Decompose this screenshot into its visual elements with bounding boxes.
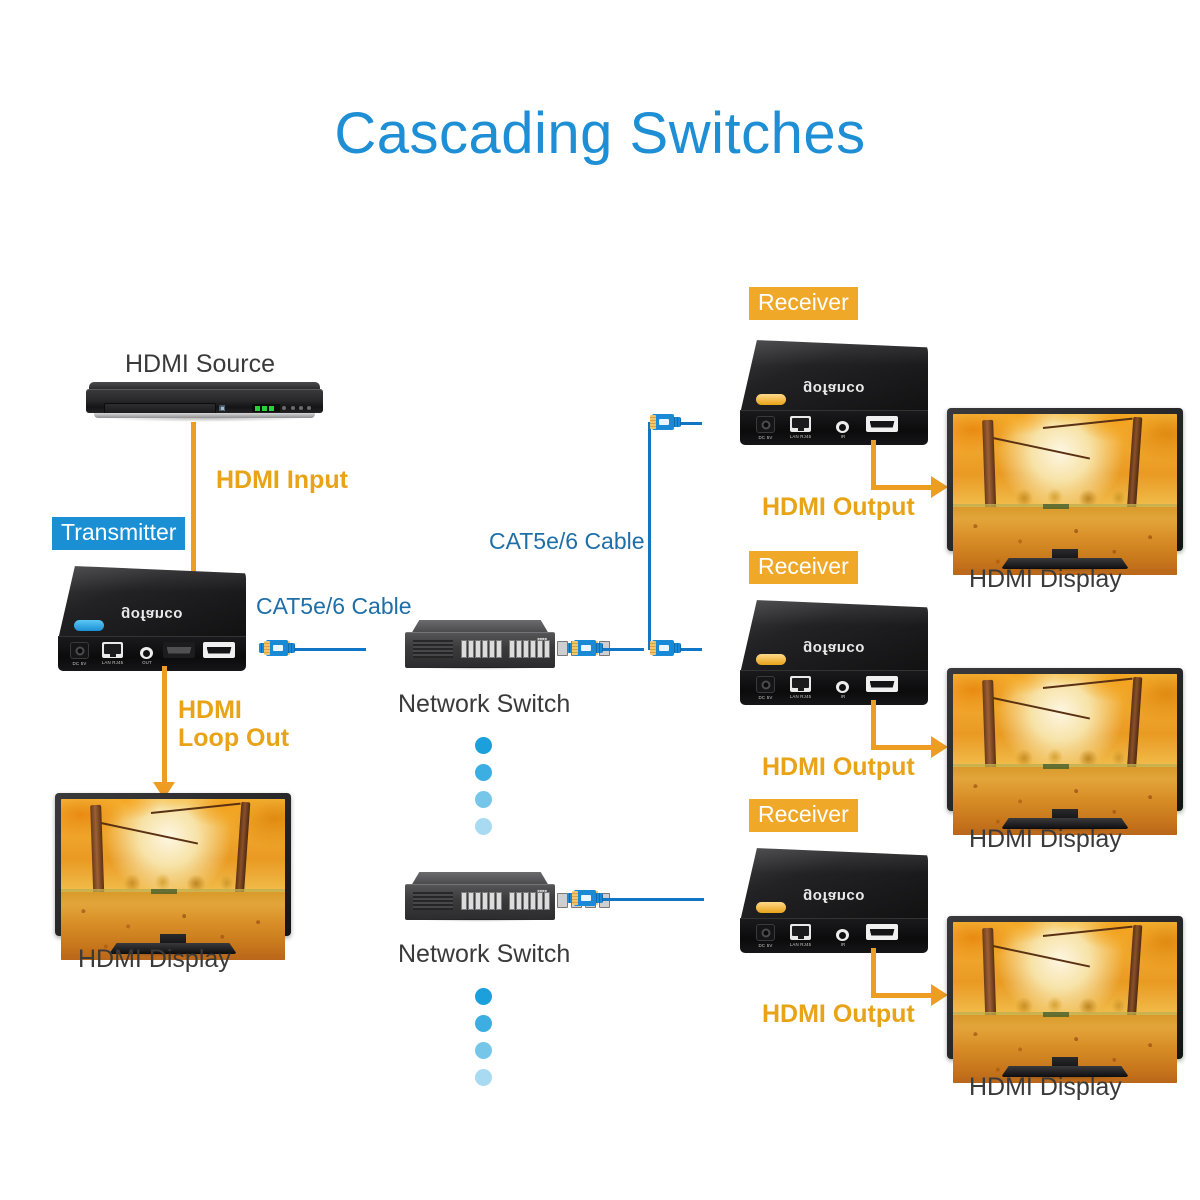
- hdmi-loop-out-line: [162, 666, 167, 784]
- receiver-1-port-panel: DC 5V LAN RJ45 IR: [740, 410, 928, 445]
- transmitter-port-dc: DC 5V: [70, 642, 89, 659]
- receiver-2-port-dc-label: DC 5V: [759, 695, 773, 700]
- transmitter-port-dc-label: DC 5V: [73, 661, 87, 666]
- receiver-1-brand-logo: gofanco: [803, 380, 865, 397]
- rj45-plug-right: [648, 412, 678, 432]
- receiver-2-port-lan-label: LAN RJ45: [790, 694, 812, 699]
- hdmi-output-3-label: HDMI Output: [762, 1000, 915, 1028]
- hdmi-loop-out-label: HDMI Loop Out: [178, 696, 289, 752]
- transmitter-badge: Transmitter: [52, 517, 185, 550]
- receiver-2-port-ir: IR: [836, 676, 850, 693]
- receiver-2-device: gofanco DC 5V LAN RJ45 IR: [740, 600, 928, 708]
- receiver-3-led-indicator: [756, 902, 786, 913]
- hdmi-display-2-caption: HDMI Display: [969, 825, 1122, 854]
- hdmi-output-3-line-h: [871, 993, 933, 998]
- receiver-2-chassis: gofanco: [740, 600, 928, 674]
- receiver-3-chassis: gofanco: [740, 848, 928, 922]
- receiver-1-port-dc: DC 5V: [756, 416, 775, 433]
- hdmi-display-loopout-caption: HDMI Display: [78, 945, 231, 974]
- receiver-3-badge: Receiver: [749, 799, 858, 832]
- transmitter-brand-logo: gofanco: [121, 606, 183, 623]
- receiver-1-port-lan: LAN RJ45: [790, 416, 811, 432]
- transmitter-chassis: gofanco: [58, 566, 246, 640]
- bluray-body: ▣: [86, 389, 323, 413]
- hdmi-output-1-arrowhead: [931, 476, 948, 498]
- cat5e-cable-receiver1: [648, 412, 728, 434]
- hdmi-display-2: [947, 668, 1183, 841]
- receiver-2-badge: Receiver: [749, 551, 858, 584]
- hdmi-output-2-line-v: [871, 700, 876, 750]
- network-switch-1: ■■■■: [405, 620, 555, 680]
- hdmi-output-2-label: HDMI Output: [762, 753, 915, 781]
- cat5e-label-transmitter: CAT5e/6 Cable: [256, 593, 412, 620]
- receiver-3-port-dc: DC 5V: [756, 924, 775, 941]
- hdmi-input-label: HDMI Input: [216, 466, 348, 494]
- hdmi-output-1-line-h: [871, 485, 933, 490]
- receiver-1-chassis: gofanco: [740, 340, 928, 414]
- hdmi-source-device: ▣: [86, 382, 323, 422]
- receiver-3-port-dc-label: DC 5V: [759, 943, 773, 948]
- switch-1-brand: ■■■■: [537, 636, 547, 641]
- transmitter-port-optical-label: OUT: [142, 660, 152, 665]
- receiver-1-port-dc-label: DC 5V: [759, 435, 773, 440]
- network-switch-1-caption: Network Switch: [398, 690, 570, 719]
- rj45-plug-right: [262, 638, 292, 658]
- cat5e-cable-receiver2: [648, 638, 728, 660]
- hdmi-display-3: [947, 916, 1183, 1089]
- receiver-1-badge: Receiver: [749, 287, 858, 320]
- receiver-3-port-lan: LAN RJ45: [790, 924, 811, 940]
- receiver-2-port-ir-label: IR: [841, 694, 846, 699]
- hdmi-display-1: [947, 408, 1183, 581]
- diagram-canvas: Cascading Switches HDMI Source ▣ HDMI In…: [0, 0, 1200, 1200]
- cascade-dots-2: [475, 988, 492, 1088]
- cat5e-cable-transmitter: [262, 638, 392, 660]
- transmitter-port-lan-label: LAN RJ45: [102, 660, 124, 665]
- hdmi-output-2-arrowhead: [931, 736, 948, 758]
- rj45-plug-right: [648, 638, 678, 658]
- bluray-display: [252, 404, 280, 412]
- transmitter-port-hdmi-in: [203, 642, 235, 658]
- hdmi-output-1-line-v: [871, 440, 876, 490]
- cat5e-label-trunk: CAT5e/6 Cable: [489, 528, 645, 555]
- switch-2-brand: ■■■■: [537, 888, 547, 893]
- receiver-1-device: gofanco DC 5V LAN RJ45 IR: [740, 340, 928, 448]
- receiver-1-port-lan-label: LAN RJ45: [790, 434, 812, 439]
- receiver-2-port-panel: DC 5V LAN RJ45 IR: [740, 670, 928, 705]
- rj45-plug-right: [570, 888, 600, 908]
- hdmi-source-label: HDMI Source: [125, 350, 275, 379]
- receiver-2-port-hdmi-out: [866, 676, 898, 692]
- hdmi-output-2-line-h: [871, 745, 933, 750]
- receiver-2-port-dc: DC 5V: [756, 676, 775, 693]
- receiver-2-port-lan: LAN RJ45: [790, 676, 811, 692]
- hdmi-output-3-arrowhead: [931, 984, 948, 1006]
- receiver-1-port-ir: IR: [836, 416, 850, 433]
- receiver-3-port-panel: DC 5V LAN RJ45 IR: [740, 918, 928, 953]
- receiver-1-led-indicator: [756, 394, 786, 405]
- bluray-logo: ▣: [219, 404, 226, 412]
- network-switch-2-caption: Network Switch: [398, 940, 570, 969]
- hdmi-output-3-line-v: [871, 948, 876, 998]
- rj45-plug-right: [570, 638, 600, 658]
- hdmi-loop-out-label-line1: HDMI: [178, 696, 242, 724]
- receiver-3-port-lan-label: LAN RJ45: [790, 942, 812, 947]
- page-title: Cascading Switches: [0, 100, 1200, 167]
- network-switch-2: ■■■■: [405, 872, 555, 932]
- receiver-3-port-ir: IR: [836, 924, 850, 941]
- hdmi-display-3-caption: HDMI Display: [969, 1073, 1122, 1102]
- cat5e-trunk-line: [648, 422, 651, 650]
- hdmi-output-1-label: HDMI Output: [762, 493, 915, 521]
- transmitter-port-panel: DC 5V LAN RJ45 OUT: [58, 636, 246, 671]
- receiver-3-port-hdmi-out: [866, 924, 898, 940]
- bluray-shadow: [100, 418, 309, 422]
- transmitter-device: gofanco DC 5V LAN RJ45 OUT: [58, 566, 246, 674]
- hdmi-loop-out-label-line2: Loop Out: [178, 724, 289, 752]
- receiver-3-device: gofanco DC 5V LAN RJ45 IR: [740, 848, 928, 956]
- hdmi-display-1-caption: HDMI Display: [969, 565, 1122, 594]
- receiver-2-led-indicator: [756, 654, 786, 665]
- transmitter-led-indicator: [74, 620, 104, 631]
- cascade-dots-1: [475, 737, 492, 837]
- transmitter-port-hdmi-out: [163, 642, 195, 658]
- receiver-3-brand-logo: gofanco: [803, 888, 865, 905]
- receiver-1-port-hdmi-out: [866, 416, 898, 432]
- cat5e-cable-switch2-receiver3: [570, 888, 730, 910]
- receiver-2-brand-logo: gofanco: [803, 640, 865, 657]
- transmitter-port-lan: LAN RJ45: [102, 642, 123, 658]
- receiver-3-port-ir-label: IR: [841, 942, 846, 947]
- hdmi-display-loopout: [55, 793, 291, 966]
- transmitter-port-optical: OUT: [140, 642, 154, 659]
- receiver-1-port-ir-label: IR: [841, 434, 846, 439]
